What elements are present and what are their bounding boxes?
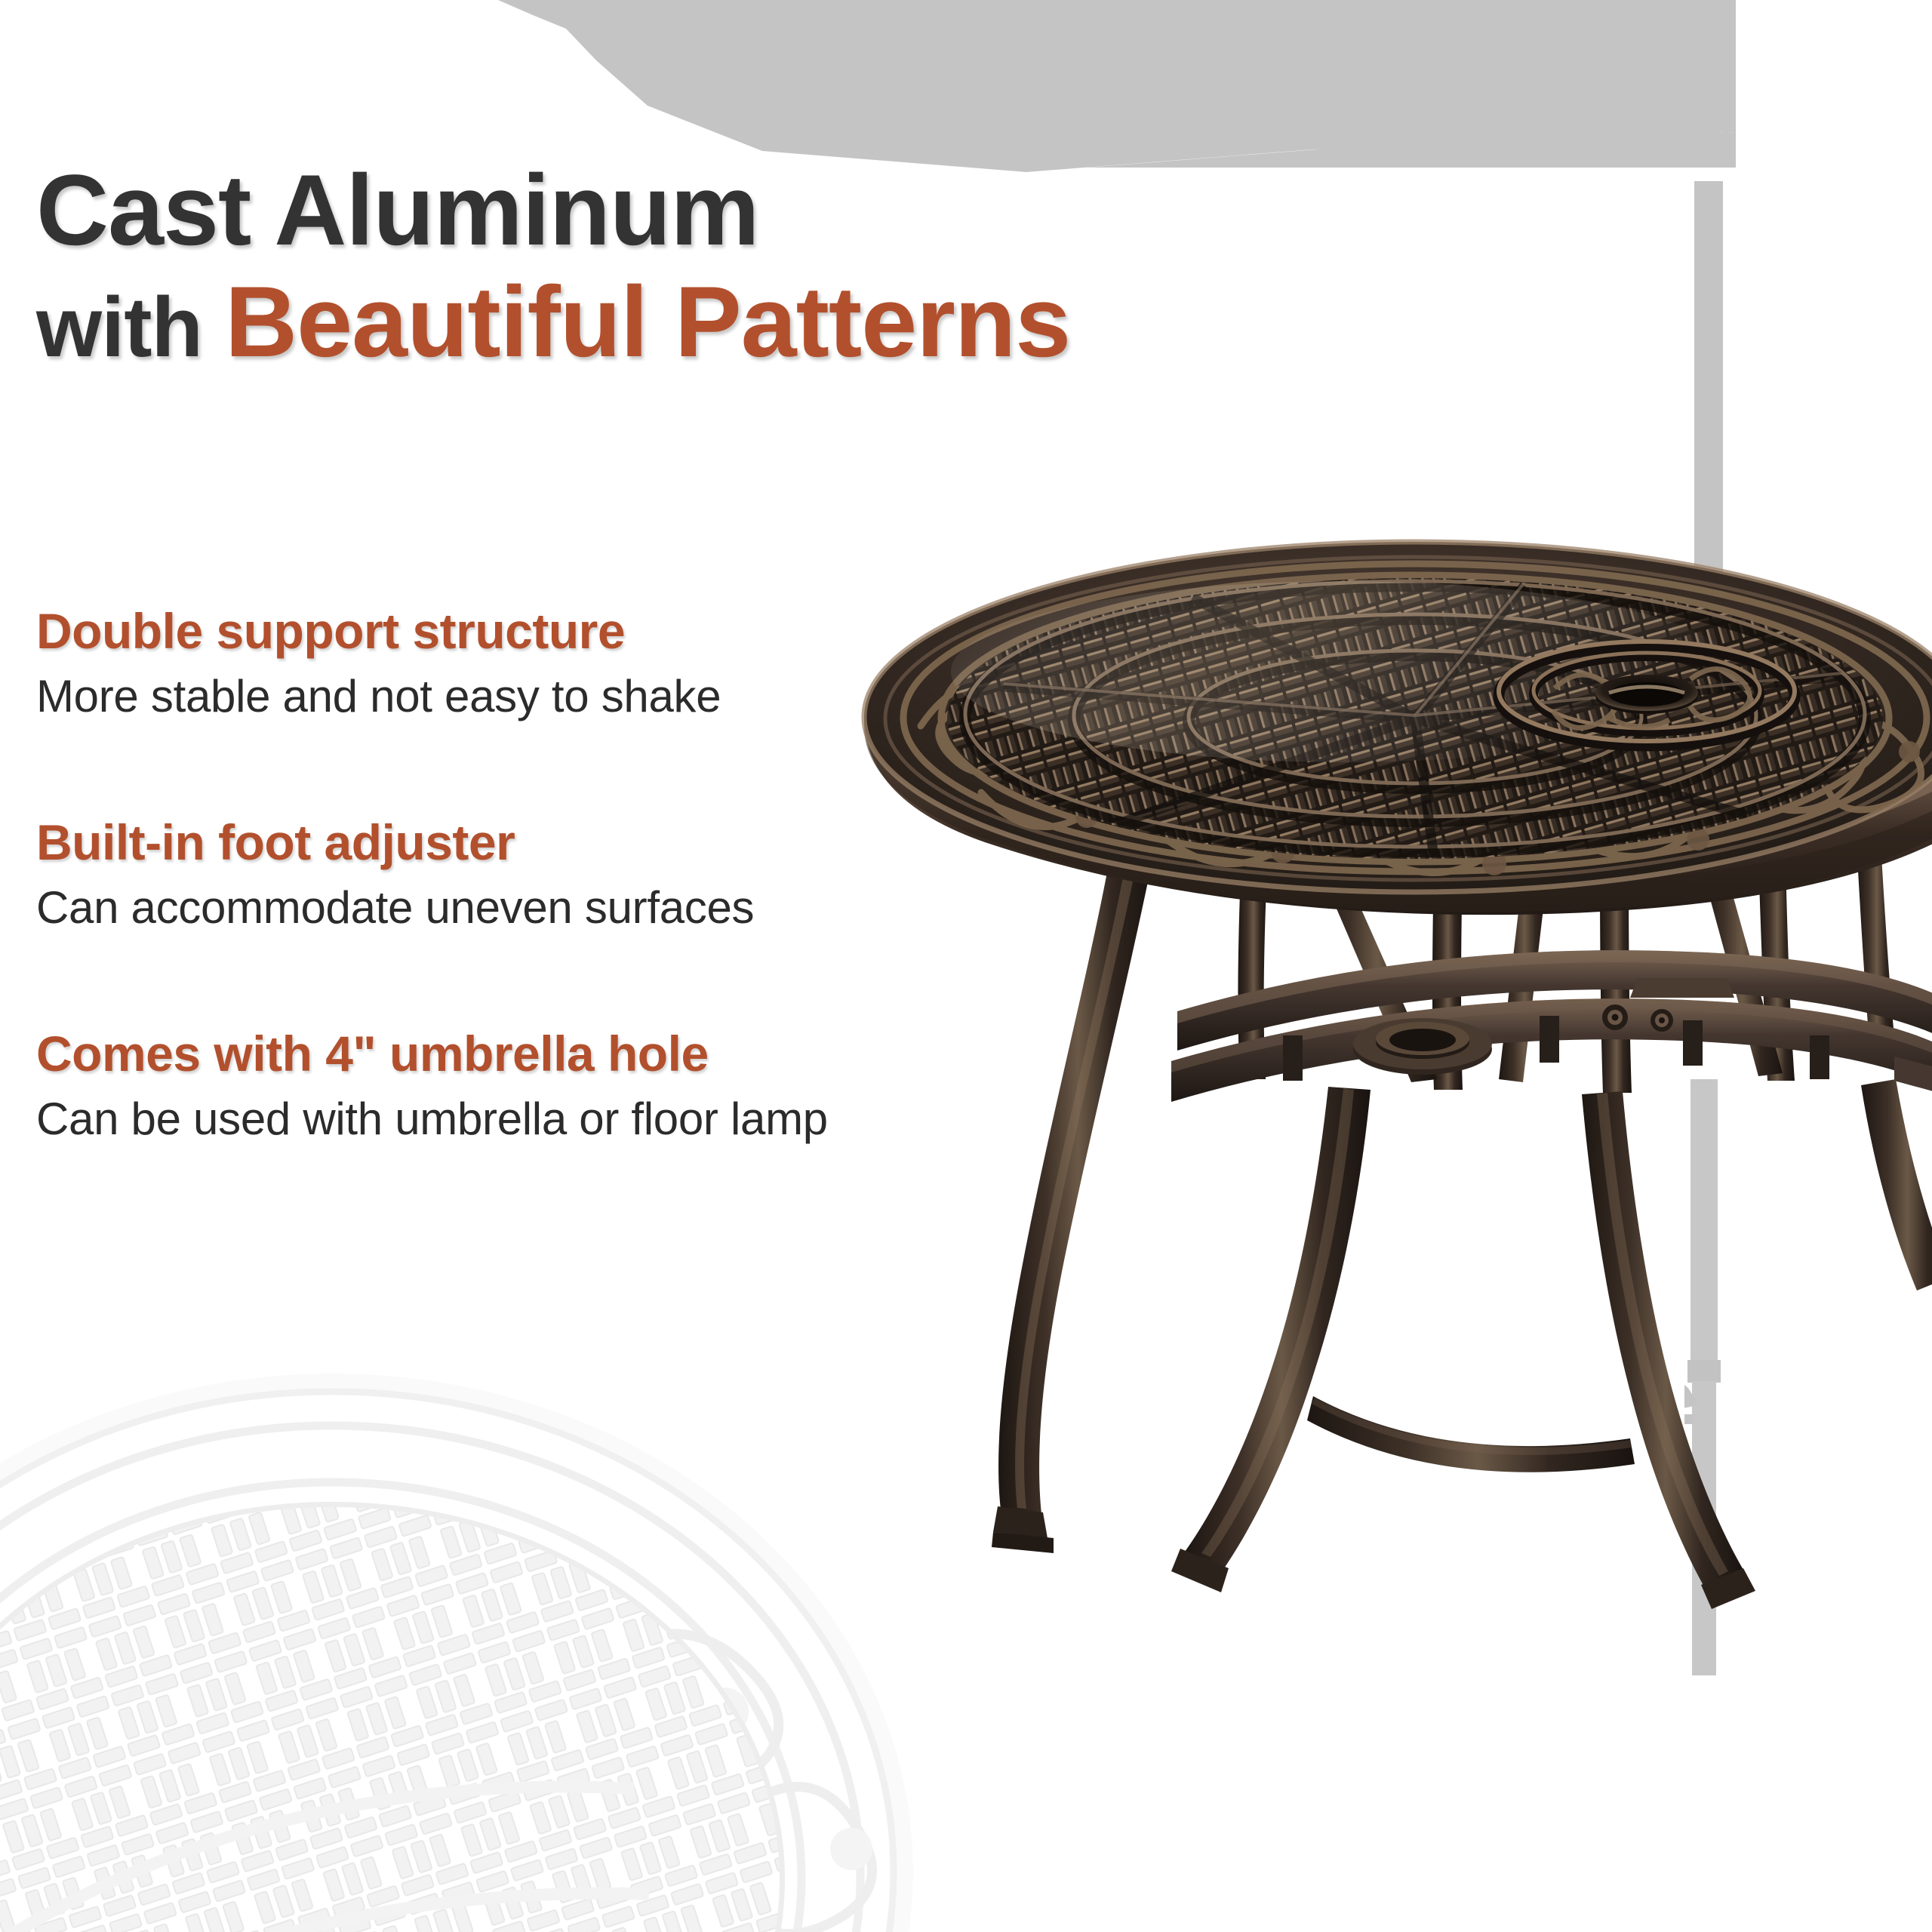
feature-list: Double support structure More stable and… xyxy=(36,605,1048,1144)
marketing-infographic: Cast Aluminum with Beautiful Patterns Do… xyxy=(0,0,1932,1932)
table-v-brace xyxy=(1307,1396,1635,1472)
table-base-structure xyxy=(992,842,1932,1609)
table-leg-front-right xyxy=(1582,1091,1755,1609)
lattice-table-top-watermark xyxy=(0,1275,921,1932)
feature-item-umbrella-hole: Comes with 4" umbrella hole Can be used … xyxy=(36,1028,1048,1144)
headline-accent-phrase: Beautiful Patterns xyxy=(225,266,1070,378)
feature-item-foot-adjuster: Built-in foot adjuster Can accommodate u… xyxy=(36,817,1048,933)
umbrella-pole-collar xyxy=(1353,1018,1492,1075)
table-leg-right-rear xyxy=(1861,1079,1932,1291)
headline-lead-word: with xyxy=(36,280,225,374)
headline-line-2: with Beautiful Patterns xyxy=(36,272,1583,374)
page-title: Cast Aluminum with Beautiful Patterns xyxy=(36,160,1583,374)
feature-title: Comes with 4" umbrella hole xyxy=(36,1028,1048,1081)
feature-subtitle: Can be used with umbrella or floor lamp xyxy=(36,1094,1048,1144)
feature-title: Double support structure xyxy=(36,605,1048,658)
feature-item-double-support: Double support structure More stable and… xyxy=(36,605,1048,721)
feature-title: Built-in foot adjuster xyxy=(36,817,1048,869)
feature-subtitle: Can accommodate uneven surfaces xyxy=(36,883,1048,933)
headline-line-1: Cast Aluminum xyxy=(36,160,1583,263)
table-leg-front-mid xyxy=(1171,1087,1371,1592)
feature-subtitle: More stable and not easy to shake xyxy=(36,672,1048,721)
double-support-ring xyxy=(1171,950,1932,1102)
